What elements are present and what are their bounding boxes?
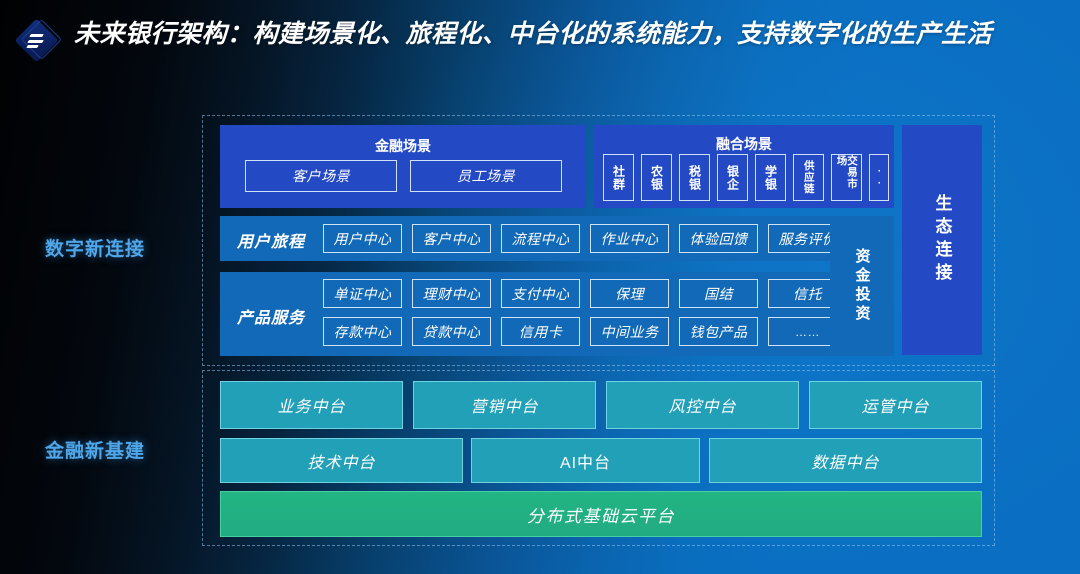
product-chip-documentary-center[interactable]: 单证中心 [323, 279, 402, 308]
ecology-connection-column[interactable]: 生态连接 [902, 125, 982, 355]
mid-platform-marketing[interactable]: 营销中台 [413, 381, 596, 429]
brand-logo-icon [18, 22, 58, 62]
mid-platform-ai[interactable]: AI中台 [471, 438, 700, 483]
product-chip-wallet-product[interactable]: 钱包产品 [679, 317, 758, 346]
product-service-row[interactable]: 产品服务 单证中心 理财中心 支付中心 保理 国结 信托 存款中心 贷款中心 信… [220, 272, 894, 356]
fusion-chip-trade-market[interactable]: 交易市场 [831, 154, 862, 201]
fusion-chip-agri-bank[interactable]: 农银 [641, 154, 672, 201]
product-chip-loan-center[interactable]: 贷款中心 [412, 317, 491, 346]
slide-header: 未来银行架构：构建场景化、旅程化、中台化的系统能力，支持数字化的生产生活 [0, 0, 1080, 105]
capital-investment-label: 资金投资 [830, 216, 894, 356]
journey-chip-process-center[interactable]: 流程中心 [501, 224, 580, 253]
mid-platform-business[interactable]: 业务中台 [220, 381, 403, 429]
capital-investment-column[interactable]: 资金投资 [830, 216, 894, 356]
product-chip-deposit-center[interactable]: 存款中心 [323, 317, 402, 346]
section-label-digital-connection: 数字新连接 [45, 234, 145, 261]
mid-platform-technology[interactable]: 技术中台 [220, 438, 463, 483]
product-chip-wealth-center[interactable]: 理财中心 [412, 279, 491, 308]
fusion-chip-edu-bank[interactable]: 学银 [755, 154, 786, 201]
mid-platform-data[interactable]: 数据中台 [709, 438, 982, 483]
product-chip-payment-center[interactable]: 支付中心 [501, 279, 580, 308]
journey-chip-experience-feedback[interactable]: 体验回馈 [679, 224, 758, 253]
distributed-cloud-platform-bar[interactable]: 分布式基础云平台 [220, 491, 982, 537]
section-label-financial-infrastructure: 金融新基建 [45, 436, 145, 463]
fusion-scene-title: 融合场景 [594, 134, 894, 154]
journey-chip-operation-center[interactable]: 作业中心 [590, 224, 669, 253]
user-journey-row[interactable]: 用户旅程 用户中心 客户中心 流程中心 作业中心 体验回馈 服务评价 [220, 216, 894, 261]
product-chip-intermediary[interactable]: 中间业务 [590, 317, 669, 346]
page-title: 未来银行架构：构建场景化、旅程化、中台化的系统能力，支持数字化的生产生活 [74, 14, 1014, 54]
product-chip-factoring[interactable]: 保理 [590, 279, 669, 308]
fusion-chip-bank-corp[interactable]: 银企 [717, 154, 748, 201]
fusion-chip-tax-bank[interactable]: 税银 [679, 154, 710, 201]
fusion-chip-community[interactable]: 社群 [603, 154, 634, 201]
user-journey-label: 用户旅程 [237, 228, 305, 252]
journey-chip-customer-center[interactable]: 客户中心 [412, 224, 491, 253]
journey-chip-user-center[interactable]: 用户中心 [323, 224, 402, 253]
finance-scene-panel[interactable]: 金融场景 客户场景 员工场景 [220, 125, 586, 208]
fusion-scene-panel[interactable]: 融合场景 社群 农银 税银 银企 学银 供应链 交易市场 ·· [594, 125, 894, 208]
finance-scene-title: 金融场景 [220, 136, 586, 156]
fusion-chip-more[interactable]: ·· [869, 154, 889, 201]
product-chip-intl-settlement[interactable]: 国结 [679, 279, 758, 308]
mid-platform-operation[interactable]: 运管中台 [809, 381, 982, 429]
scene-chip-customer[interactable]: 客户场景 [245, 160, 397, 192]
product-chip-credit-card[interactable]: 信用卡 [501, 317, 580, 346]
scene-chip-employee[interactable]: 员工场景 [410, 160, 562, 192]
ecology-connection-label: 生态连接 [902, 125, 982, 355]
logo-slash-marks [27, 34, 49, 54]
fusion-chip-supply-chain[interactable]: 供应链 [793, 154, 824, 201]
product-service-label: 产品服务 [237, 304, 305, 328]
mid-platform-risk[interactable]: 风控中台 [606, 381, 799, 429]
